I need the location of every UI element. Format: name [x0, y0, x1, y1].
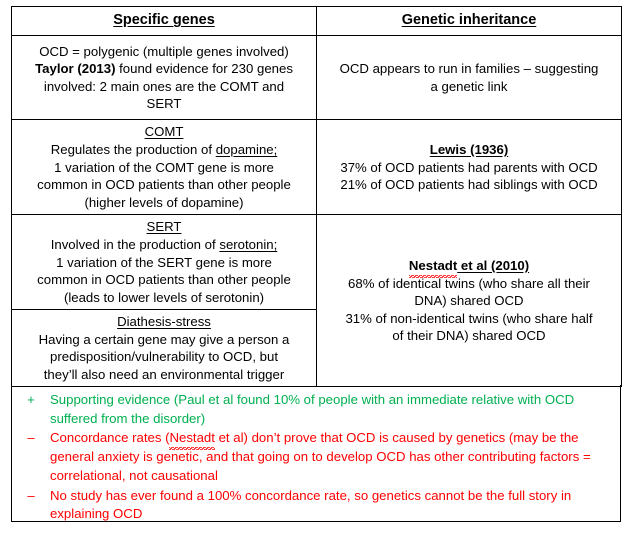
sert-line-4: (leads to lower levels of serotonin)	[18, 289, 310, 307]
polygenic-line-2-rest: found evidence for 230 genes	[119, 61, 293, 76]
diathesis-line-1: Having a certain gene may give a person …	[18, 331, 310, 349]
evaluation-item-negative-1: – Concordance rates (Nestadt et al) don’…	[12, 429, 610, 485]
sert-line-2: 1 variation of the SERT gene is more	[18, 254, 310, 272]
column-header-genetic-inheritance-label: Genetic inheritance	[402, 12, 537, 28]
families-line-2: a genetic link	[323, 78, 615, 96]
nestadt-citation: Nestadt et al (2010)	[323, 257, 615, 275]
nestadt-misspelled-word: Nestadt	[409, 257, 457, 275]
table-row-comt: COMT Regulates the production of dopamin…	[12, 120, 622, 215]
taylor-citation: Taylor (2013)	[35, 61, 115, 76]
nestadt-line-3: 31% of non-identical twins (who share ha…	[323, 310, 615, 328]
cell-polygenic-genes: OCD = polygenic (multiple genes involved…	[12, 36, 317, 120]
nestadt-line-4: of their DNA) shared OCD	[323, 327, 615, 345]
document-page: Specific genes Genetic inheritance OCD =…	[0, 0, 633, 538]
table-header: Specific genes Genetic inheritance	[12, 7, 622, 36]
comt-line-1: Regulates the production of dopamine;	[18, 141, 310, 159]
cell-diathesis-stress: Diathesis-stress Having a certain gene m…	[12, 310, 317, 387]
plus-marker-icon: +	[12, 391, 50, 410]
evaluation-item-negative-2: – No study has ever found a 100% concord…	[12, 487, 610, 524]
nestadt-misspelled-word-2: Nestadt	[169, 429, 214, 448]
minus-marker-icon-1: –	[12, 429, 50, 448]
polygenic-line-1: OCD = polygenic (multiple genes involved…	[18, 43, 310, 61]
comt-line-4: (higher levels of dopamine)	[18, 194, 310, 212]
genetic-explanations-table: Specific genes Genetic inheritance OCD =…	[11, 6, 622, 387]
comt-line-1-text: Regulates the production of	[51, 142, 212, 157]
minus-marker-icon-2: –	[12, 487, 50, 506]
column-header-specific-genes: Specific genes	[12, 7, 317, 36]
lewis-line-1: 37% of OCD patients had parents with OCD	[323, 159, 615, 177]
evaluation-positive-text: Supporting evidence (Paul et al found 10…	[50, 391, 610, 428]
serotonin-term: serotonin;	[219, 237, 277, 252]
families-line-1: OCD appears to run in families – suggest…	[323, 60, 615, 78]
evaluation-box: + Supporting evidence (Paul et al found …	[11, 385, 621, 522]
table-row-polygenic: OCD = polygenic (multiple genes involved…	[12, 36, 622, 120]
diathesis-line-3: they’ll also need an environmental trigg…	[18, 366, 310, 384]
cell-lewis-study: Lewis (1936) 37% of OCD patients had par…	[317, 120, 622, 215]
cell-nestadt-twin-study: Nestadt et al (2010) 68% of identical tw…	[317, 215, 622, 387]
table-row-sert: SERT Involved in the production of serot…	[12, 215, 622, 310]
dopamine-term: dopamine;	[216, 142, 278, 157]
column-header-genetic-inheritance: Genetic inheritance	[317, 7, 622, 36]
nestadt-line-1: 68% of identical twins (who share all th…	[323, 275, 615, 293]
table-body: OCD = polygenic (multiple genes involved…	[12, 36, 622, 387]
nestadt-citation-rest: et al (2010)	[457, 258, 529, 273]
table-header-row: Specific genes Genetic inheritance	[12, 7, 622, 36]
evaluation-negative-text-2: No study has ever found a 100% concordan…	[50, 487, 610, 524]
cell-sert: SERT Involved in the production of serot…	[12, 215, 317, 310]
comt-line-2: 1 variation of the COMT gene is more	[18, 159, 310, 177]
cell-comt: COMT Regulates the production of dopamin…	[12, 120, 317, 215]
sert-line-1-text: Involved in the production of	[51, 237, 216, 252]
comt-subheading: COMT	[18, 123, 310, 141]
evaluation-negative-text-1: Concordance rates (Nestadt et al) don’t …	[50, 429, 610, 485]
polygenic-line-3: involved: 2 main ones are the COMT and	[18, 78, 310, 96]
lewis-line-2: 21% of OCD patients had siblings with OC…	[323, 176, 615, 194]
polygenic-line-2: Taylor (2013) found evidence for 230 gen…	[18, 60, 310, 78]
diathesis-line-2: predisposition/vulnerability to OCD, but	[18, 348, 310, 366]
evaluation-item-positive: + Supporting evidence (Paul et al found …	[12, 391, 610, 428]
sert-line-3: common in OCD patients than other people	[18, 271, 310, 289]
sert-subheading: SERT	[18, 218, 310, 236]
lewis-citation: Lewis (1936)	[323, 141, 615, 159]
polygenic-line-4: SERT	[18, 95, 310, 113]
nestadt-line-2: DNA) shared OCD	[323, 292, 615, 310]
negative-1-before: Concordance rates (	[50, 430, 169, 445]
cell-families-inheritance: OCD appears to run in families – suggest…	[317, 36, 622, 120]
sert-line-1: Involved in the production of serotonin;	[18, 236, 310, 254]
column-header-specific-genes-label: Specific genes	[113, 12, 215, 28]
comt-line-3: common in OCD patients than other people	[18, 176, 310, 194]
diathesis-subheading: Diathesis-stress	[18, 313, 310, 331]
